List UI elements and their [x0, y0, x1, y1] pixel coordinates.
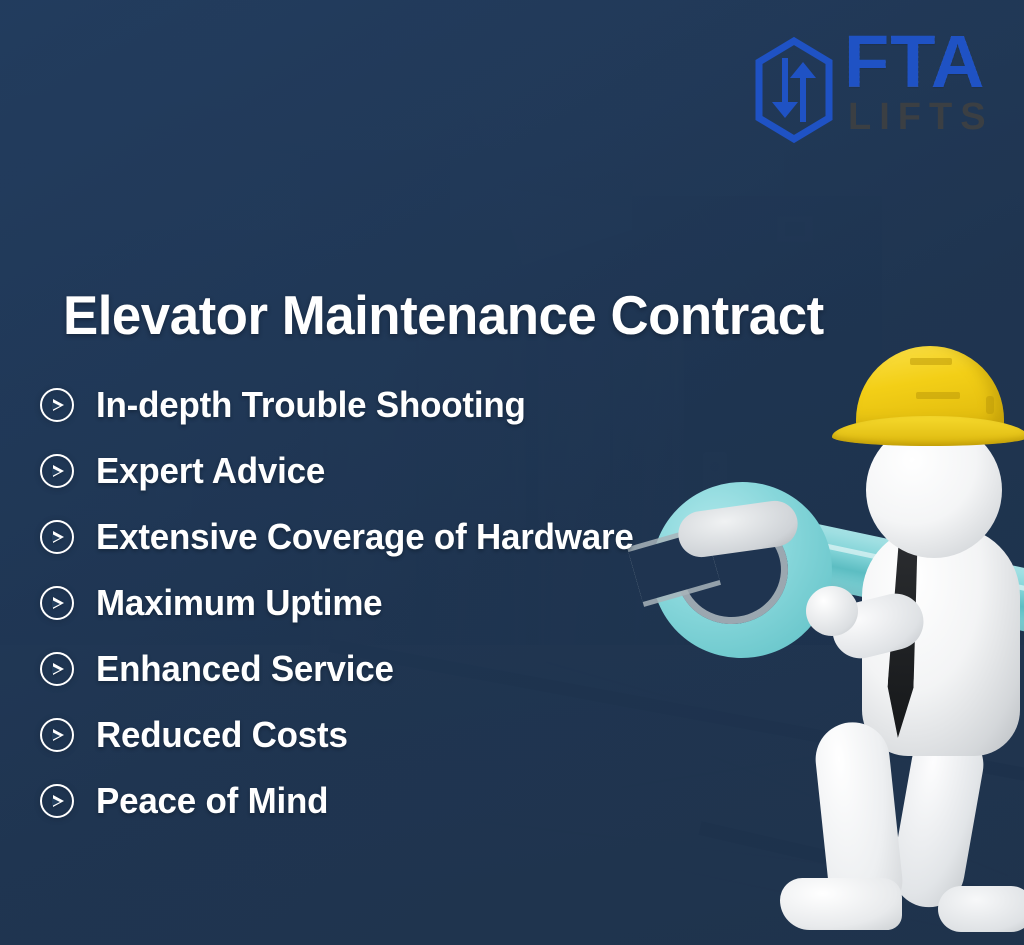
list-item-label: Enhanced Service — [96, 648, 394, 690]
list-item-label: In-depth Trouble Shooting — [96, 384, 526, 426]
list-item-label: Maximum Uptime — [96, 582, 382, 624]
chevron-right-circle-icon — [40, 520, 74, 554]
promo-banner: FTA LIFTS Elevator Maintenance Contract … — [0, 0, 1024, 945]
chevron-right-circle-icon — [40, 784, 74, 818]
list-item: Peace of Mind — [40, 768, 650, 834]
list-item: Maximum Uptime — [40, 570, 650, 636]
list-item: In-depth Trouble Shooting — [40, 372, 650, 438]
chevron-right-circle-icon — [40, 652, 74, 686]
list-item-label: Reduced Costs — [96, 714, 348, 756]
chevron-right-circle-icon — [40, 454, 74, 488]
chevron-right-circle-icon — [40, 586, 74, 620]
chevron-right-circle-icon — [40, 388, 74, 422]
chevron-right-circle-icon — [40, 718, 74, 752]
list-item: Reduced Costs — [40, 702, 650, 768]
list-item: Enhanced Service — [40, 636, 650, 702]
list-item-label: Expert Advice — [96, 450, 325, 492]
list-item: Extensive Coverage of Hardware — [40, 504, 650, 570]
list-item-label: Peace of Mind — [96, 780, 328, 822]
page-title: Elevator Maintenance Contract — [63, 283, 824, 347]
list-item-label: Extensive Coverage of Hardware — [96, 516, 634, 558]
promo-content: Elevator Maintenance Contract In-depth T… — [0, 0, 1024, 945]
feature-list: In-depth Trouble Shooting Expert Advice … — [40, 372, 650, 834]
list-item: Expert Advice — [40, 438, 650, 504]
